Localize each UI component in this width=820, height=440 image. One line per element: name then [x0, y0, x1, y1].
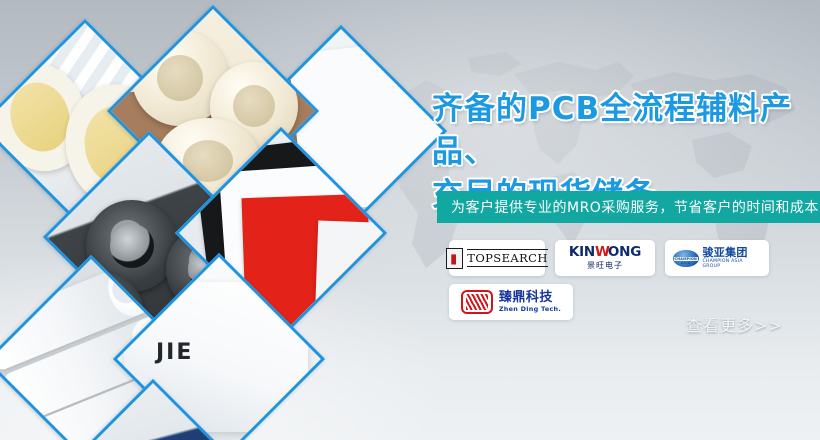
printed-film-label: JIE	[156, 340, 193, 365]
zhen-ding-label-cn: 臻鼎科技	[499, 291, 561, 304]
kinwong-w-icon: W	[595, 246, 608, 260]
product-collage: JIE	[0, 40, 420, 440]
view-more-link[interactable]: 查看更多>>	[686, 312, 783, 336]
logo-row-1: TOPSEARCH KINWONG 景旺电子 CHAMPION ASIA	[449, 240, 794, 276]
headline-line-1: 齐备的PCB全流程辅料产品、	[432, 91, 792, 170]
kinwong-label-b: ONG	[608, 246, 641, 260]
champion-asia-label-en: CHAMPION ASIA GROUP	[703, 260, 762, 269]
logo-topsearch[interactable]: TOPSEARCH	[449, 240, 545, 276]
logo-champion-asia[interactable]: CHAMPION ASIA 骏亚集团 CHAMPION ASIA GROUP	[665, 240, 769, 276]
banner-subtitle-text: 为客户提供专业的MRO采购服务，节省客户的时间和成本	[437, 197, 819, 217]
promo-banner: JIE 齐备的PCB全流程辅料产品、 充足的现货储备 为客户提供专业的MRO采购…	[0, 0, 820, 440]
banner-subtitle-bar: 为客户提供专业的MRO采购服务，节省客户的时间和成本	[437, 191, 820, 223]
topsearch-mark-icon	[446, 248, 463, 269]
logo-kinwong[interactable]: KINWONG 景旺电子	[555, 240, 655, 276]
kinwong-label-cn: 景旺电子	[587, 262, 623, 270]
kinwong-label-a: KIN	[569, 246, 595, 260]
zhen-ding-label-en: Zhen Ding Tech.	[499, 306, 561, 312]
champion-asia-label-cn: 骏亚集团	[703, 247, 762, 258]
champion-asia-globe-icon: CHAMPION ASIA	[673, 250, 699, 267]
champion-asia-globe-text: CHAMPION ASIA	[674, 257, 698, 261]
topsearch-label: TOPSEARCH	[467, 250, 548, 266]
logo-zhen-ding[interactable]: 臻鼎科技 Zhen Ding Tech.	[449, 284, 573, 320]
zhen-ding-mark-icon	[461, 290, 493, 314]
